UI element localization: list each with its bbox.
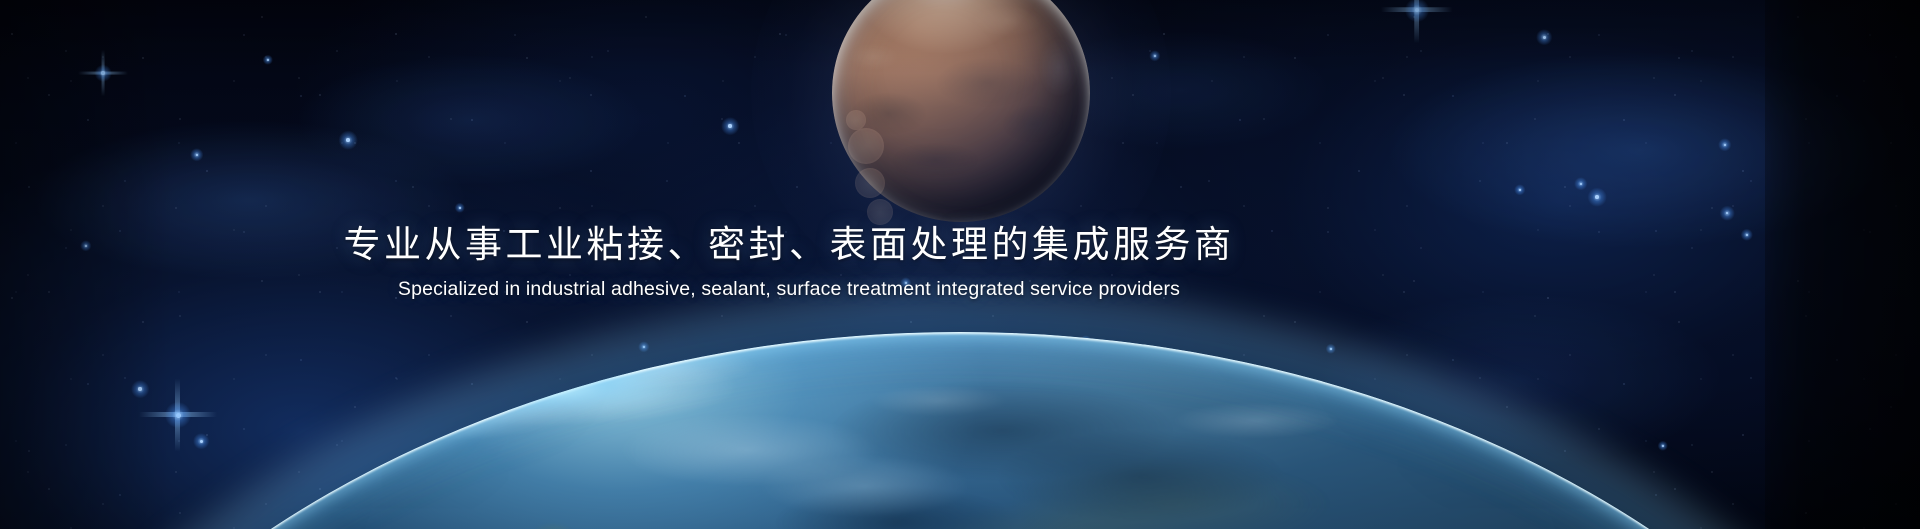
hero-banner: 专业从事工业粘接、密封、表面处理的集成服务商 Specialized in in… [0,0,1920,529]
hero-copy: 专业从事工业粘接、密封、表面处理的集成服务商 Specialized in in… [0,222,1578,302]
subheadline-english: Specialized in industrial adhesive, seal… [0,276,1578,302]
earth-limb-highlight [366,332,726,448]
earth [0,332,1920,529]
earth-body [0,332,1920,529]
rocky-planet-body [832,0,1090,222]
headline-chinese: 专业从事工业粘接、密封、表面处理的集成服务商 [0,222,1578,268]
rocky-planet [832,0,1090,222]
